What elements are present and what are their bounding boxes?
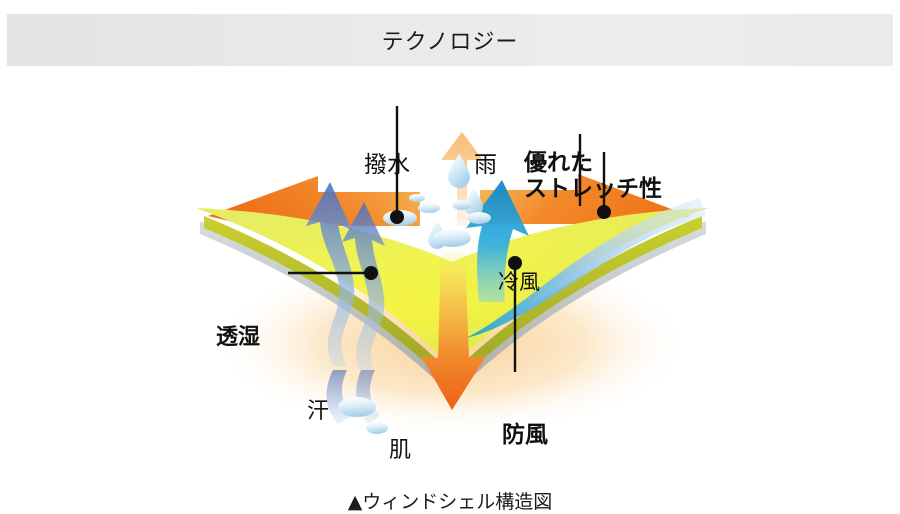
water-bead: [418, 203, 440, 213]
sweat-droplet: [366, 422, 388, 434]
section-header-bar: テクノロジー: [7, 14, 893, 66]
water-bead: [409, 194, 425, 202]
label-stretch-line1: 優れた: [524, 150, 662, 176]
leader-dot-cold-wind: [597, 205, 611, 219]
technology-diagram: 撥水 雨 優れた ストレッチ性 冷風 透湿 汗 肌 防風 ▲ウィンドシェル構造図: [0, 66, 900, 471]
leader-dot-windproof: [508, 256, 522, 270]
diagram-caption: ▲ウィンドシェル構造図: [0, 487, 900, 514]
label-rain: 雨: [474, 152, 497, 178]
water-bead: [433, 229, 471, 247]
leader-dot-water-repellent: [390, 210, 404, 224]
page-title: テクノロジー: [382, 24, 519, 56]
label-sweat: 汗: [307, 399, 329, 424]
label-stretch-line2: ストレッチ性: [524, 176, 662, 202]
label-windproof: 防風: [502, 422, 548, 448]
page-root: テクノロジー: [0, 0, 900, 471]
water-bead: [452, 200, 472, 210]
sweat-droplet: [338, 397, 376, 417]
diagram-artwork: [0, 66, 900, 471]
label-skin: 肌: [389, 438, 411, 463]
label-cold-wind: 冷風: [498, 270, 540, 294]
label-moisture-permeable: 透湿: [216, 325, 260, 350]
label-water-repellent: 撥水: [364, 152, 410, 178]
leader-dot-moisture: [364, 266, 378, 280]
label-stretch: 優れた ストレッチ性: [524, 150, 662, 203]
water-bead: [467, 212, 491, 224]
